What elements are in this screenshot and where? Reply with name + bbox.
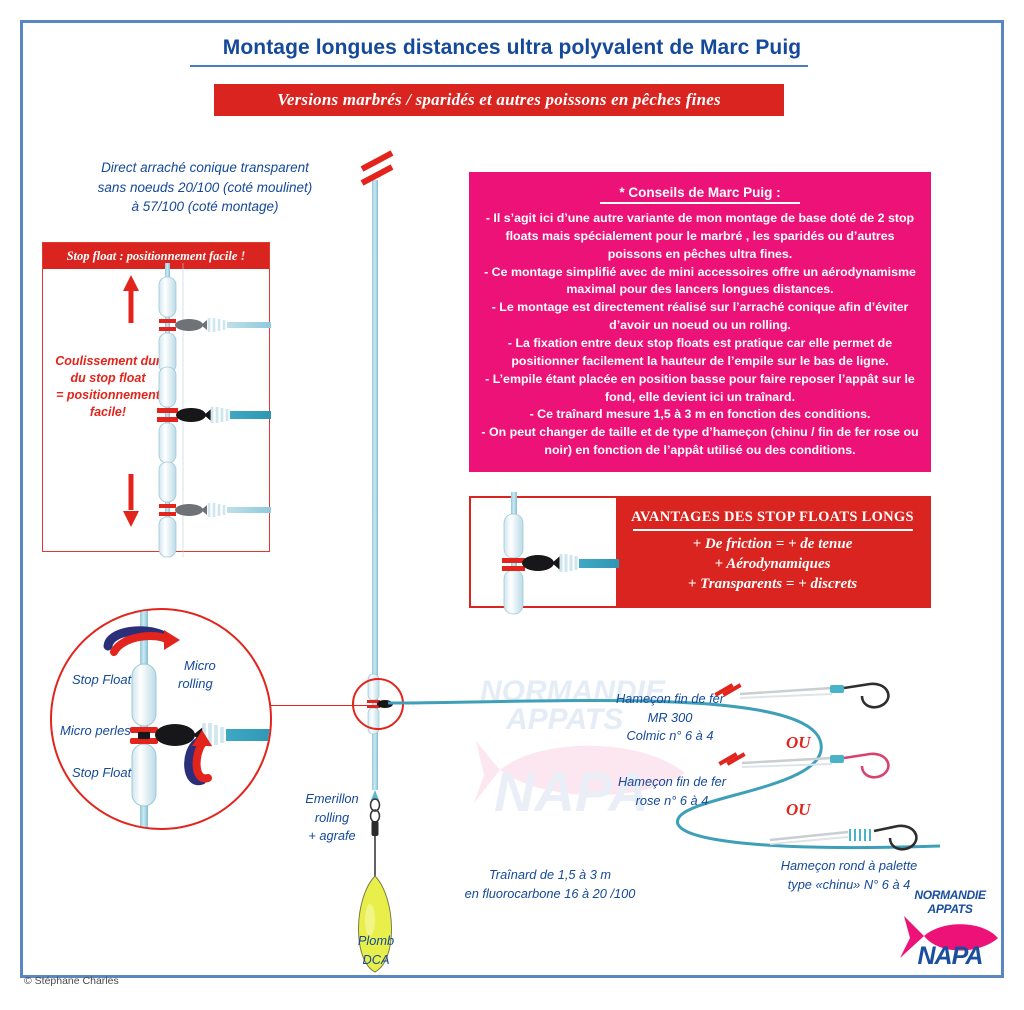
advice-paragraph-4: - La fixation entre deux stop floats est… (479, 335, 921, 371)
swivel-label-line2: rolling (286, 809, 378, 828)
advice-panel: * Conseils de Marc Puig : - Il s’agit ic… (469, 172, 931, 472)
advantages-heading-underline (633, 529, 913, 531)
magnifier-label-microrolling-line1: Micro (184, 658, 216, 673)
hook-label-2-line1: Hameçon fin de fer (602, 773, 742, 792)
hook-snood-2 (718, 745, 908, 791)
trainard-label-line2: en fluorocarbone 16 à 20 /100 (440, 885, 660, 904)
magnifier-label-microperles: Micro perles (60, 723, 131, 738)
advice-paragraph-6: - Ce traînard mesure 1,5 à 3 m en foncti… (479, 406, 921, 424)
stop-float-panel-header: Stop float : positionnement facile ! (43, 243, 269, 269)
page-title: Montage longues distances ultra polyvale… (0, 36, 1024, 60)
trainard-label: Traînard de 1,5 à 3 m en fluorocarbone 1… (440, 866, 660, 903)
lead-label-line2: DCA (330, 951, 422, 970)
lead-label: Plomb DCA (330, 932, 422, 969)
logo-line3: NAPA (898, 942, 1002, 971)
micro-rolling-swivel (155, 724, 195, 746)
stop-float-assembly-top (159, 277, 271, 373)
advantages-heading: AVANTAGES DES STOP FLOATS LONGS (631, 509, 914, 526)
stop-float-assembly-bottom (159, 462, 271, 557)
stop-float-assembly-middle (157, 367, 271, 463)
logo-line1: NORMANDIE (898, 888, 1002, 902)
diagram-page: NORMANDIE APPATS NAPA Montage longues di… (0, 0, 1024, 1010)
advice-paragraph-5: - L’empile étant placée en position bass… (479, 371, 921, 407)
snood-whipping-1 (830, 685, 844, 693)
hook-label-1-line2: MR 300 (600, 709, 740, 728)
hook-3-icon (874, 826, 916, 849)
arrache-note-line2: sans noeuds 20/100 (coté moulinet) (75, 178, 335, 198)
advice-heading: * Conseils de Marc Puig : (479, 185, 921, 200)
magnifier-label-microrolling-line2: rolling (178, 676, 213, 691)
magnifier-leader-line (270, 705, 368, 706)
advice-paragraph-1: - Il s’agit ici d’une autre variante de … (479, 210, 921, 264)
snood-whipping-3 (850, 829, 870, 841)
stop-float-panel-header-text: Stop float : positionnement facile ! (67, 249, 246, 264)
snood-cut-marks-icon (718, 752, 745, 765)
hook-snood-3 (770, 816, 960, 862)
napa-logo: NORMANDIE APPATS NAPA (898, 886, 1002, 978)
magnifier-label-stopfloat-top: Stop Float (72, 672, 131, 687)
or-label-1: OU (786, 733, 811, 753)
advantages-content: AVANTAGES DES STOP FLOATS LONGS + De fri… (616, 498, 929, 606)
swivel-label-line1: Emerillon (286, 790, 378, 809)
advantages-illustration (471, 498, 616, 606)
advice-paragraph-2: - Ce montage simplifié avec de mini acce… (479, 264, 921, 300)
hook-label-3-line1: Hameçon rond à palette (754, 857, 944, 876)
snood-whipping-2 (830, 755, 844, 763)
advice-paragraph-3: - Le montage est directement réalisé sur… (479, 299, 921, 335)
subtitle-text: Versions marbrés / sparidés et autres po… (277, 90, 721, 110)
magnifier-detail-circle: Stop Float Micro perles Stop Float Micro… (50, 608, 272, 830)
arrache-note-line1: Direct arraché conique transparent (75, 158, 335, 178)
advantages-line-2: + Aérodynamiques (715, 555, 831, 575)
advantages-panel: AVANTAGES DES STOP FLOATS LONGS + De fri… (469, 496, 931, 608)
advantages-line-1: + De friction = + de tenue (693, 535, 853, 555)
swivel-label-line3: + agrafe (286, 827, 378, 846)
or-label-2: OU (786, 800, 811, 820)
arrache-note-line3: à 57/100 (coté montage) (75, 197, 335, 217)
advice-heading-underline (600, 202, 800, 204)
subtitle-banner: Versions marbrés / sparidés et autres po… (214, 84, 784, 116)
hook-label-1-line1: Hameçon fin de fer (600, 690, 740, 709)
hook-label-2: Hameçon fin de fer rose n° 6 à 4 (602, 773, 742, 810)
advice-paragraph-7: - On peut changer de taille et de type d… (479, 424, 921, 460)
hook-label-2-line2: rose n° 6 à 4 (602, 792, 742, 811)
hook-label-1-line3: Colmic n° 6 à 4 (600, 727, 740, 746)
advantages-line-3: + Transparents = + discrets (688, 575, 857, 595)
lead-label-line1: Plomb (330, 932, 422, 951)
title-underline (190, 65, 808, 67)
copyright: © Stéphane Charles (24, 975, 119, 987)
hook-2-icon (844, 754, 888, 777)
trainard-label-line1: Traînard de 1,5 à 3 m (440, 866, 660, 885)
magnifier-label-stopfloat-bottom: Stop Float (72, 765, 131, 780)
hook-1-icon (844, 684, 888, 707)
arrache-note: Direct arraché conique transparent sans … (75, 158, 335, 217)
hook-snood-1 (714, 676, 904, 722)
hook-label-1: Hameçon fin de fer MR 300 Colmic n° 6 à … (600, 690, 740, 746)
stop-float-panel: Stop float : positionnement facile ! Cou… (42, 242, 270, 552)
stop-float-positions-illustration (43, 267, 271, 553)
swivel-label: Emerillon rolling + agrafe (286, 790, 378, 846)
